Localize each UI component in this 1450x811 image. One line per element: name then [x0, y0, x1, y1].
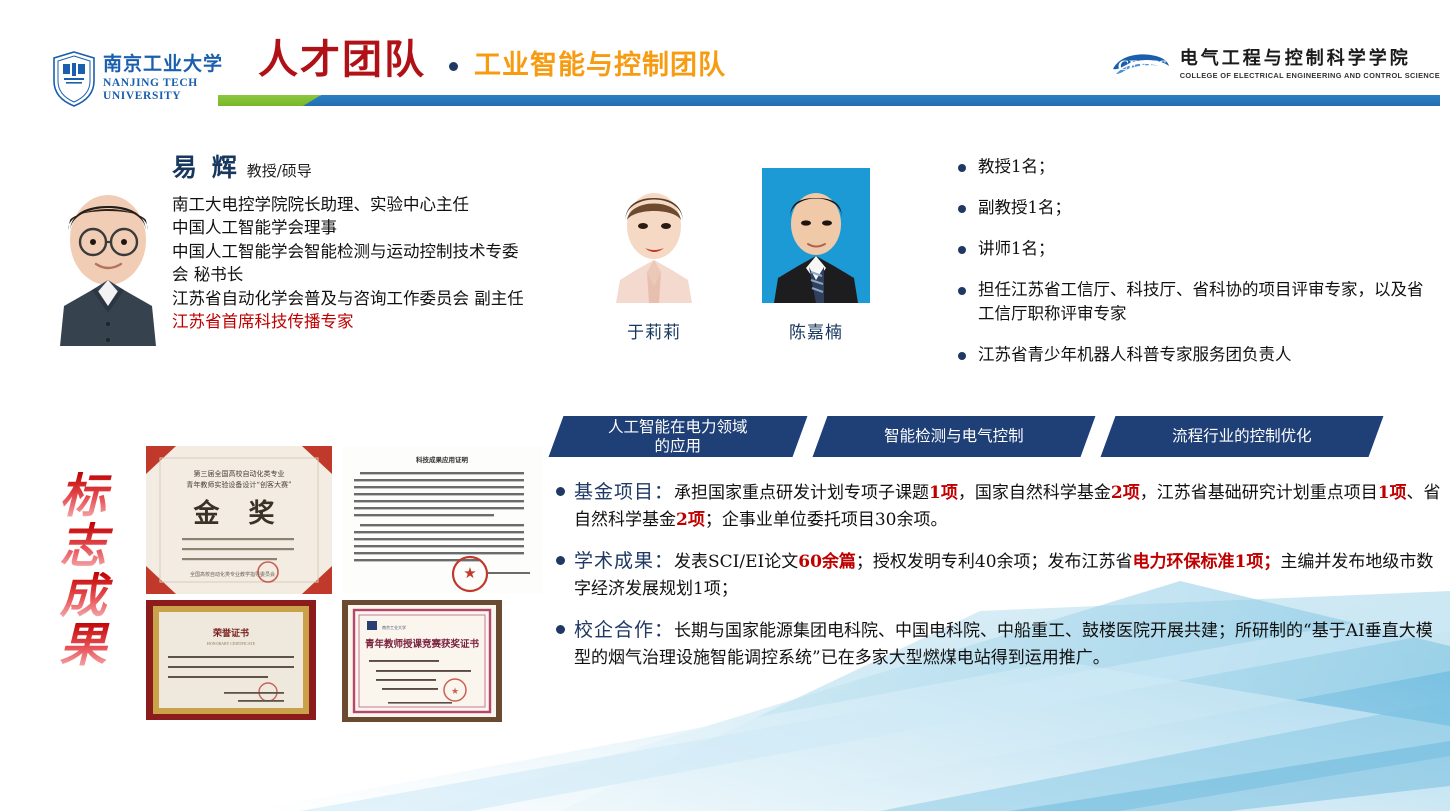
- member-photo-group: 于莉莉 陈嘉楠: [600, 168, 870, 343]
- achievement-label: 学术成果：: [574, 550, 674, 572]
- list-item: 副教授1名；: [958, 196, 1428, 220]
- svg-text:科技成果应用证明: 科技成果应用证明: [416, 455, 469, 464]
- lead-credential-highlight: 江苏省首席科技传播专家: [172, 310, 572, 333]
- member-portrait-image: [762, 168, 870, 303]
- lead-credential-line: 南工大电控学院院长助理、实验中心主任: [172, 193, 572, 216]
- achievement-row: 学术成果：发表SCI/EI论文60余篇；授权发明专利40余项；发布江苏省电力环保…: [556, 547, 1441, 603]
- member-name: 于莉莉: [600, 318, 708, 343]
- page-subtitle: 工业智能与控制团队: [474, 52, 726, 79]
- list-item-label: 担任江苏省工信厅、科技厅、省科协的项目评审专家，以及省工信厅职称评审专家: [978, 278, 1428, 326]
- svg-text:HONORARY CERTIFICATE: HONORARY CERTIFICATE: [207, 641, 256, 646]
- list-item-label: 江苏省青少年机器人科普专家服务团负责人: [978, 343, 1292, 367]
- svg-text:第三届全国高校自动化类专业: 第三届全国高校自动化类专业: [194, 469, 285, 478]
- achievement-body: 学术成果：发表SCI/EI论文60余篇；授权发明专利40余项；发布江苏省电力环保…: [574, 547, 1441, 603]
- team-composition-list: 教授1名； 副教授1名； 讲师1名； 担任江苏省工信厅、科技厅、省科协的项目评审…: [958, 155, 1428, 384]
- member-portrait-image: [600, 168, 708, 303]
- slide-root: 南京工业大学 NANJING TECH UNIVERSITY 人才团队 工业智能…: [0, 0, 1450, 811]
- college-name-cn: 电气工程与控制科学学院: [1180, 50, 1440, 68]
- member-card: 陈嘉楠: [762, 168, 870, 343]
- text-run: 承担国家重点研发计划专项子课题: [674, 483, 929, 503]
- achievement-body: 基金项目：承担国家重点研发计划专项子课题1项，国家自然科学基金2项，江苏省基础研…: [574, 478, 1441, 534]
- bullet-dot-icon: [958, 164, 966, 172]
- banner-direction-2[interactable]: 智能检测与电气控制: [813, 416, 1096, 457]
- text-run: ；企事业单位委托项目30余项。: [705, 510, 948, 530]
- university-name-cn: 南京工业大学: [103, 55, 223, 74]
- achievement-row: 校企合作：长期与国家能源集团电科院、中国电科院、中船重工、鼓楼医院开展共建；所研…: [556, 616, 1441, 672]
- lead-role: 教授/硕导: [247, 162, 312, 180]
- text-run: 长期与国家能源集团电科院、中国电科院、中船重工、鼓楼医院开展共建；所研制的“基于…: [574, 621, 1433, 668]
- achievement-text: 长期与国家能源集团电科院、中国电科院、中船重工、鼓楼医院开展共建；所研制的“基于…: [574, 621, 1433, 668]
- university-logo: 南京工业大学 NANJING TECH UNIVERSITY: [52, 48, 224, 110]
- text-run: 60余篇: [798, 552, 856, 572]
- certificate-image-gold-award: 第三届全国高校自动化类专业 青年教师实验设备设计“创客大赛” 金 奖 全国高校自…: [146, 446, 332, 594]
- vertical-title-char: 标: [52, 472, 114, 522]
- text-run: 1项: [929, 483, 958, 503]
- svg-text:荣誉证书: 荣誉证书: [212, 627, 249, 639]
- banner-direction-3[interactable]: 流程行业的控制优化: [1101, 416, 1384, 457]
- svg-text:★: ★: [451, 686, 459, 696]
- text-run: 1项: [1378, 483, 1407, 503]
- certificate-gallery: 第三届全国高校自动化类专业 青年教师实验设备设计“创客大赛” 金 奖 全国高校自…: [146, 446, 546, 722]
- bullet-dot-icon: [556, 556, 565, 565]
- lead-credential-line: 中国人工智能学会理事: [172, 216, 572, 239]
- vertical-title-char: 成: [52, 572, 114, 622]
- lead-credentials: 南工大电控学院院长助理、实验中心主任 中国人工智能学会理事 中国人工智能学会智能…: [172, 193, 572, 334]
- banner-direction-1[interactable]: 人工智能在电力领域 的应用: [549, 416, 808, 457]
- slide-header: 南京工业大学 NANJING TECH UNIVERSITY 人才团队 工业智能…: [0, 0, 1450, 115]
- bullet-dot-icon: [958, 246, 966, 254]
- achievement-label: 校企合作：: [574, 619, 674, 641]
- svg-text:青年教师授课竞赛获奖证书: 青年教师授课竞赛获奖证书: [365, 638, 480, 650]
- certificate-image-teaching-competition: 南京工业大学 青年教师授课竞赛获奖证书 ★: [342, 600, 502, 722]
- vertical-title-char: 果: [52, 621, 114, 671]
- svg-text:金 奖: 金 奖: [192, 498, 284, 529]
- achievements-list: 基金项目：承担国家重点研发计划专项子课题1项，国家自然科学基金2项，江苏省基础研…: [556, 478, 1441, 684]
- bullet-dot-icon: [958, 352, 966, 360]
- bullet-dot-icon: [556, 487, 565, 496]
- list-item: 讲师1名；: [958, 237, 1428, 261]
- achievement-body: 校企合作：长期与国家能源集团电科院、中国电科院、中船重工、鼓楼医院开展共建；所研…: [574, 616, 1441, 672]
- banner-label: 流程行业的控制优化: [1172, 427, 1312, 446]
- banner-label: 人工智能在电力领域 的应用: [608, 418, 748, 455]
- bullet-dot-icon: [958, 287, 966, 295]
- ceecs-mark-icon: CEECS: [1110, 50, 1172, 80]
- page-title: 人才团队: [258, 40, 426, 80]
- svg-text:青年教师实验设备设计“创客大赛”: 青年教师实验设备设计“创客大赛”: [186, 480, 292, 489]
- certificate-image-application-proof: 科技成果应用证明 ★: [342, 446, 542, 594]
- lead-name: 易 辉: [172, 148, 240, 184]
- svg-text:南京工业大学: 南京工业大学: [382, 624, 406, 630]
- lead-profile-text: 易 辉教授/硕导 南工大电控学院院长助理、实验中心主任 中国人工智能学会理事 中…: [172, 148, 572, 334]
- svg-text:全国高校自动化类专业教学指导委员会: 全国高校自动化类专业教学指导委员会: [190, 571, 275, 578]
- university-name-en: NANJING TECH UNIVERSITY: [103, 77, 223, 103]
- member-card: 于莉莉: [600, 168, 708, 343]
- svg-text:CEECS: CEECS: [1118, 58, 1166, 74]
- section-title-vertical: 标 志 成 果: [52, 472, 114, 671]
- svg-text:★: ★: [463, 566, 476, 582]
- lead-credential-line: 会 秘书长: [172, 263, 572, 286]
- title-separator-dot: [449, 62, 458, 71]
- shield-icon: [52, 51, 96, 107]
- lead-portrait-image: [28, 168, 188, 346]
- list-item-label: 副教授1名；: [978, 196, 1071, 220]
- text-run: 发表SCI/EI论文: [674, 552, 798, 572]
- college-name-en: COLLEGE OF ELECTRICAL ENGINEERING AND CO…: [1180, 72, 1440, 79]
- achievement-text: 承担国家重点研发计划专项子课题1项，国家自然科学基金2项，江苏省基础研究计划重点…: [574, 483, 1441, 530]
- text-run: ；授权发明专利40余项；发布江苏省: [856, 552, 1133, 572]
- certificate-image-honor: 荣誉证书 HONORARY CERTIFICATE: [146, 600, 316, 720]
- list-item-label: 讲师1名；: [978, 237, 1055, 261]
- list-item-label: 教授1名；: [978, 155, 1055, 179]
- bullet-dot-icon: [958, 205, 966, 213]
- text-run: 2项: [676, 510, 705, 530]
- lead-credential-line: 中国人工智能学会智能检测与运动控制技术专委: [172, 240, 572, 263]
- lead-photo: [28, 168, 188, 346]
- research-direction-banners: 人工智能在电力领域 的应用 智能检测与电气控制 流程行业的控制优化: [556, 416, 1376, 457]
- header-bar-blue: [303, 95, 1440, 106]
- college-logo: CEECS 电气工程与控制科学学院 COLLEGE OF ELECTRICAL …: [1110, 50, 1440, 80]
- member-name: 陈嘉楠: [762, 318, 870, 343]
- banner-label: 智能检测与电气控制: [884, 427, 1024, 446]
- text-run: ，江苏省基础研究计划重点项目: [1140, 483, 1378, 503]
- achievement-text: 发表SCI/EI论文60余篇；授权发明专利40余项；发布江苏省电力环保标准1项；…: [574, 552, 1433, 599]
- bullet-dot-icon: [556, 625, 565, 634]
- achievement-label: 基金项目：: [574, 481, 674, 503]
- list-item: 教授1名；: [958, 155, 1428, 179]
- list-item: 担任江苏省工信厅、科技厅、省科协的项目评审专家，以及省工信厅职称评审专家: [958, 278, 1428, 326]
- header-bar-green: [218, 95, 320, 106]
- lead-credential-line: 江苏省自动化学会普及与咨询工作委员会 副主任: [172, 287, 572, 310]
- text-run: ，国家自然科学基金: [958, 483, 1111, 503]
- vertical-title-char: 志: [52, 522, 114, 572]
- list-item: 江苏省青少年机器人科普专家服务团负责人: [958, 343, 1428, 367]
- achievement-row: 基金项目：承担国家重点研发计划专项子课题1项，国家自然科学基金2项，江苏省基础研…: [556, 478, 1441, 534]
- text-run: 电力环保标准1项；: [1133, 552, 1281, 572]
- text-run: 2项: [1111, 483, 1140, 503]
